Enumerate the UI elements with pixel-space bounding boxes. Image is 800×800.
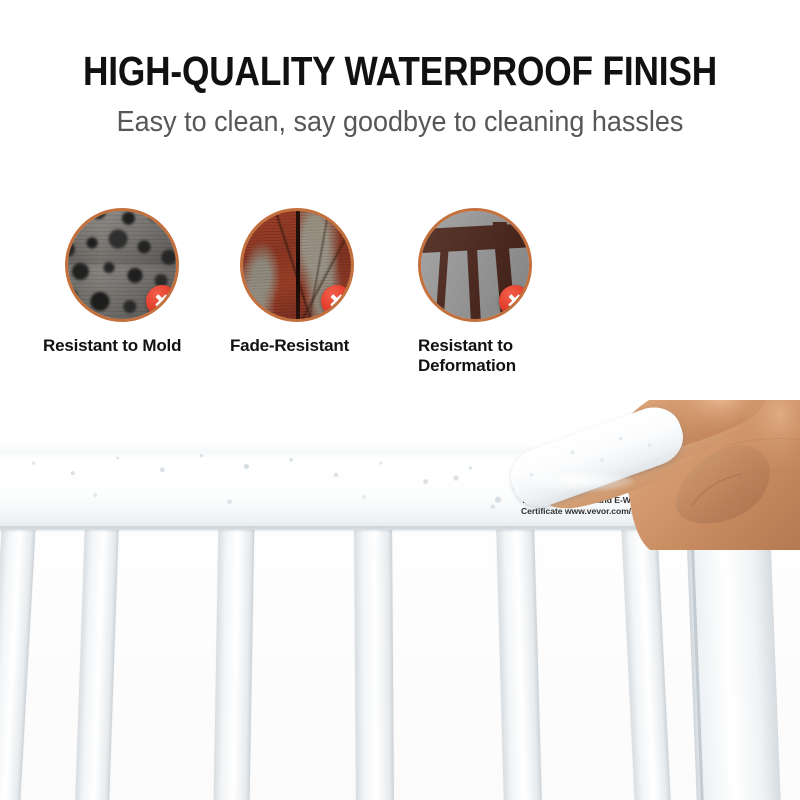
- feature-label-fade: Fade-Resistant: [230, 336, 360, 356]
- feature-badge-resistant-to-mold: Resistant to Mold: [65, 208, 185, 356]
- hand-with-sponge: [480, 400, 800, 550]
- red-x-icon: [499, 285, 531, 317]
- feature-label-deformation: Resistant to Deformation: [418, 336, 548, 376]
- railing-baluster: [496, 528, 542, 800]
- feature-badge-fade-resistant: Fade-Resistant: [240, 208, 360, 356]
- cleaning-sponge: [508, 428, 698, 494]
- feature-badge-resistant-to-deformation: Resistant to Deformation: [418, 208, 538, 376]
- feature-label-mold: Resistant to Mold: [43, 336, 185, 356]
- page-title: HIGH-QUALITY WATERPROOF FINISH: [56, 50, 744, 93]
- mold-photo-circle: [65, 208, 179, 322]
- product-marketing-image: HIGH-QUALITY WATERPROOF FINISH Easy to c…: [0, 0, 800, 800]
- feature-badge-row: Resistant to Mold Fade-Resistant: [0, 208, 800, 408]
- page-subtitle: Easy to clean, say goodbye to cleaning h…: [28, 106, 772, 139]
- red-x-icon: [321, 285, 353, 317]
- railing-baluster: [354, 528, 394, 800]
- railing-baluster: [214, 528, 255, 800]
- deformation-photo-circle: [418, 208, 532, 322]
- product-photo: Technical Support and E-Warranty Certifi…: [0, 400, 800, 800]
- fade-photo-circle: [240, 208, 354, 322]
- red-x-icon: [146, 285, 178, 317]
